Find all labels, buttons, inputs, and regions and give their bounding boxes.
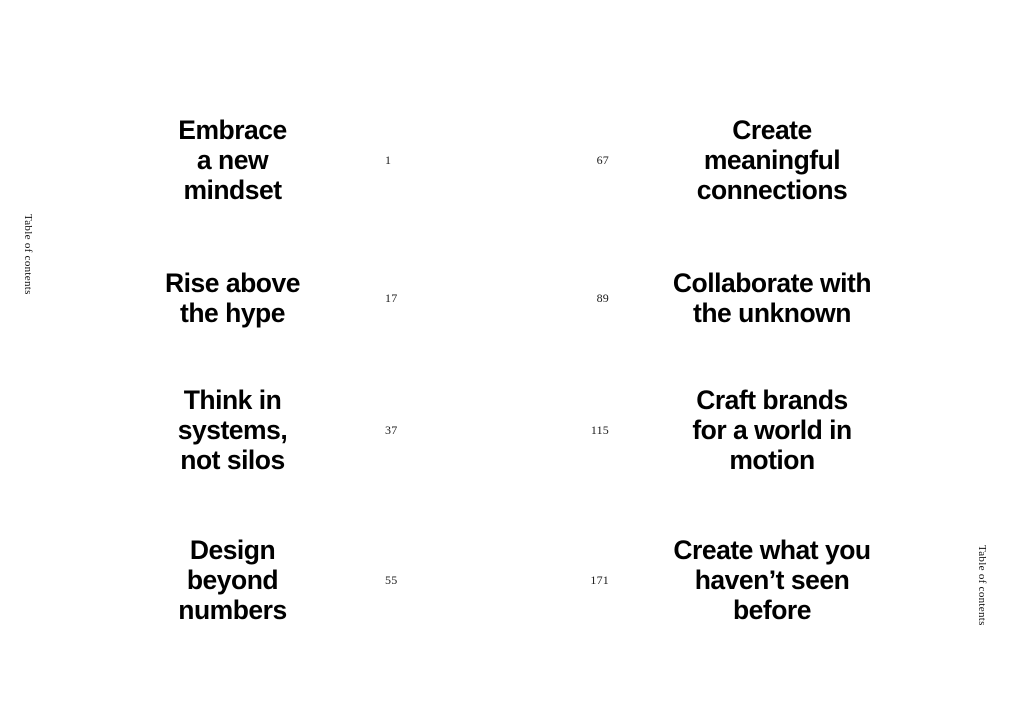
entry-page-number: 37 (330, 423, 450, 438)
entry-page-number: 115 (537, 423, 657, 438)
toc-entry-right[interactable]: 89 Collaborate withthe unknown (510, 268, 1020, 328)
toc-row: Embracea newmindset 1 67 Createmeaningfu… (0, 110, 1020, 210)
toc-entry-right[interactable]: 115 Craft brandsfor a world inmotion (510, 385, 1020, 475)
entry-title: Think insystems,not silos (135, 385, 330, 475)
entry-title: Embracea newmindset (135, 115, 330, 205)
toc-entry-right[interactable]: 67 Createmeaningfulconnections (510, 115, 1020, 205)
entry-title: Collaborate withthe unknown (657, 268, 887, 328)
toc-row: Rise abovethe hype 17 89 Collaborate wit… (0, 263, 1020, 333)
toc-entry-right[interactable]: 171 Create what youhaven’t seenbefore (510, 535, 1020, 625)
toc-entry-left[interactable]: Rise abovethe hype 17 (0, 268, 510, 328)
entry-page-number: 1 (330, 153, 450, 168)
entry-page-number: 89 (537, 291, 657, 306)
toc-entry-left[interactable]: Designbeyondnumbers 55 (0, 535, 510, 625)
entry-page-number: 171 (537, 573, 657, 588)
toc-entry-left[interactable]: Think insystems,not silos 37 (0, 385, 510, 475)
toc-row: Think insystems,not silos 37 115 Craft b… (0, 380, 1020, 480)
entry-title: Create what youhaven’t seenbefore (657, 535, 887, 625)
entry-page-number: 67 (537, 153, 657, 168)
entry-title: Rise abovethe hype (135, 268, 330, 328)
entry-page-number: 55 (330, 573, 450, 588)
toc-row: Designbeyondnumbers 55 171 Create what y… (0, 530, 1020, 630)
toc-entry-left[interactable]: Embracea newmindset 1 (0, 115, 510, 205)
entry-title: Designbeyondnumbers (135, 535, 330, 625)
entry-title: Craft brandsfor a world inmotion (657, 385, 887, 475)
entry-page-number: 17 (330, 291, 450, 306)
table-of-contents: Embracea newmindset 1 67 Createmeaningfu… (0, 0, 1020, 714)
entry-title: Createmeaningfulconnections (657, 115, 887, 205)
toc-page: Table of contents Table of contents Embr… (0, 0, 1020, 714)
